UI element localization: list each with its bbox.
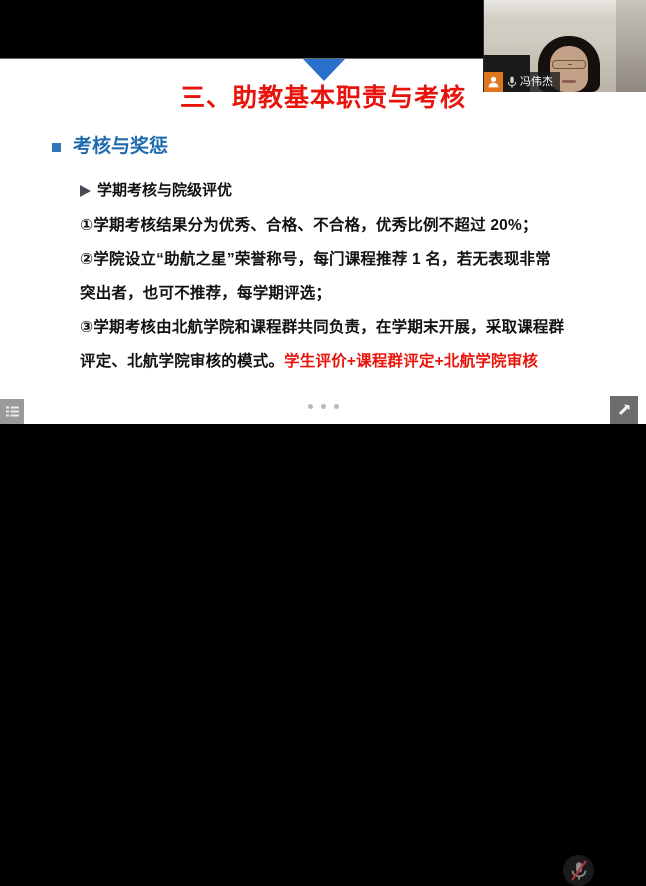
expand-arrow-icon	[616, 402, 632, 418]
slide-body-final-black: 评定、北航学院审核的模式。	[80, 353, 284, 370]
arrow-bullet-icon	[80, 185, 91, 197]
shared-slide-content[interactable]: 三、助教基本职责与考核 考核与奖惩 学期考核与院级评优 ①学期考核结果分为优秀、…	[0, 58, 646, 424]
triangle-ornament-icon	[303, 59, 345, 81]
page-dot	[321, 404, 326, 409]
page-dot	[308, 404, 313, 409]
microphone-muted-icon	[569, 860, 589, 882]
page-dot	[334, 404, 339, 409]
slide-subheading: 学期考核与院级评优	[80, 181, 232, 201]
slide-body: ①学期考核结果分为优秀、合格、不合格，优秀比例不超过 20%； ②学院设立“助航…	[80, 209, 620, 379]
slide-list-menu-button[interactable]	[0, 399, 24, 424]
participant-mouth	[562, 80, 576, 83]
slide-body-line: ③学期考核由北航学院和课程群共同负责，在学期末开展，采取课程群	[80, 311, 620, 345]
slide-body-line-final: 评定、北航学院审核的模式。学生评价+课程群评定+北航学院审核	[80, 345, 620, 379]
meeting-window: 三、助教基本职责与考核 考核与奖惩 学期考核与院级评优 ①学期考核结果分为优秀、…	[0, 0, 646, 484]
slide-body-line: 突出者，也可不推荐，每学期评选；	[80, 277, 620, 311]
camera-background-wall	[616, 0, 646, 92]
slide-body-line: ①学期考核结果分为优秀、合格、不合格，优秀比例不超过 20%；	[80, 209, 620, 243]
slide-expand-button[interactable]	[610, 396, 638, 424]
bottom-toolbar	[0, 424, 646, 484]
self-mute-button[interactable]	[563, 855, 594, 886]
participant-video-thumbnail[interactable]: 冯伟杰	[483, 0, 646, 92]
slide-heading-label: 考核与奖惩	[73, 135, 168, 159]
slide-subheading-label: 学期考核与院级评优	[97, 181, 232, 201]
slide-body-line: ②学院设立“助航之星”荣誉称号，每门课程推荐 1 名，若无表现非常	[80, 243, 620, 277]
microphone-icon	[503, 72, 520, 92]
person-avatar-icon	[484, 72, 503, 92]
participant-name-label: 冯伟杰	[520, 72, 553, 92]
participant-glasses	[552, 60, 586, 69]
participant-nameplate: 冯伟杰	[484, 72, 560, 92]
square-bullet-icon	[52, 143, 61, 152]
slide-heading: 考核与奖惩	[52, 135, 168, 159]
page-indicator-dots	[0, 404, 646, 409]
slide-body-final-red: 学生评价+课程群评定+北航学院审核	[284, 353, 538, 370]
